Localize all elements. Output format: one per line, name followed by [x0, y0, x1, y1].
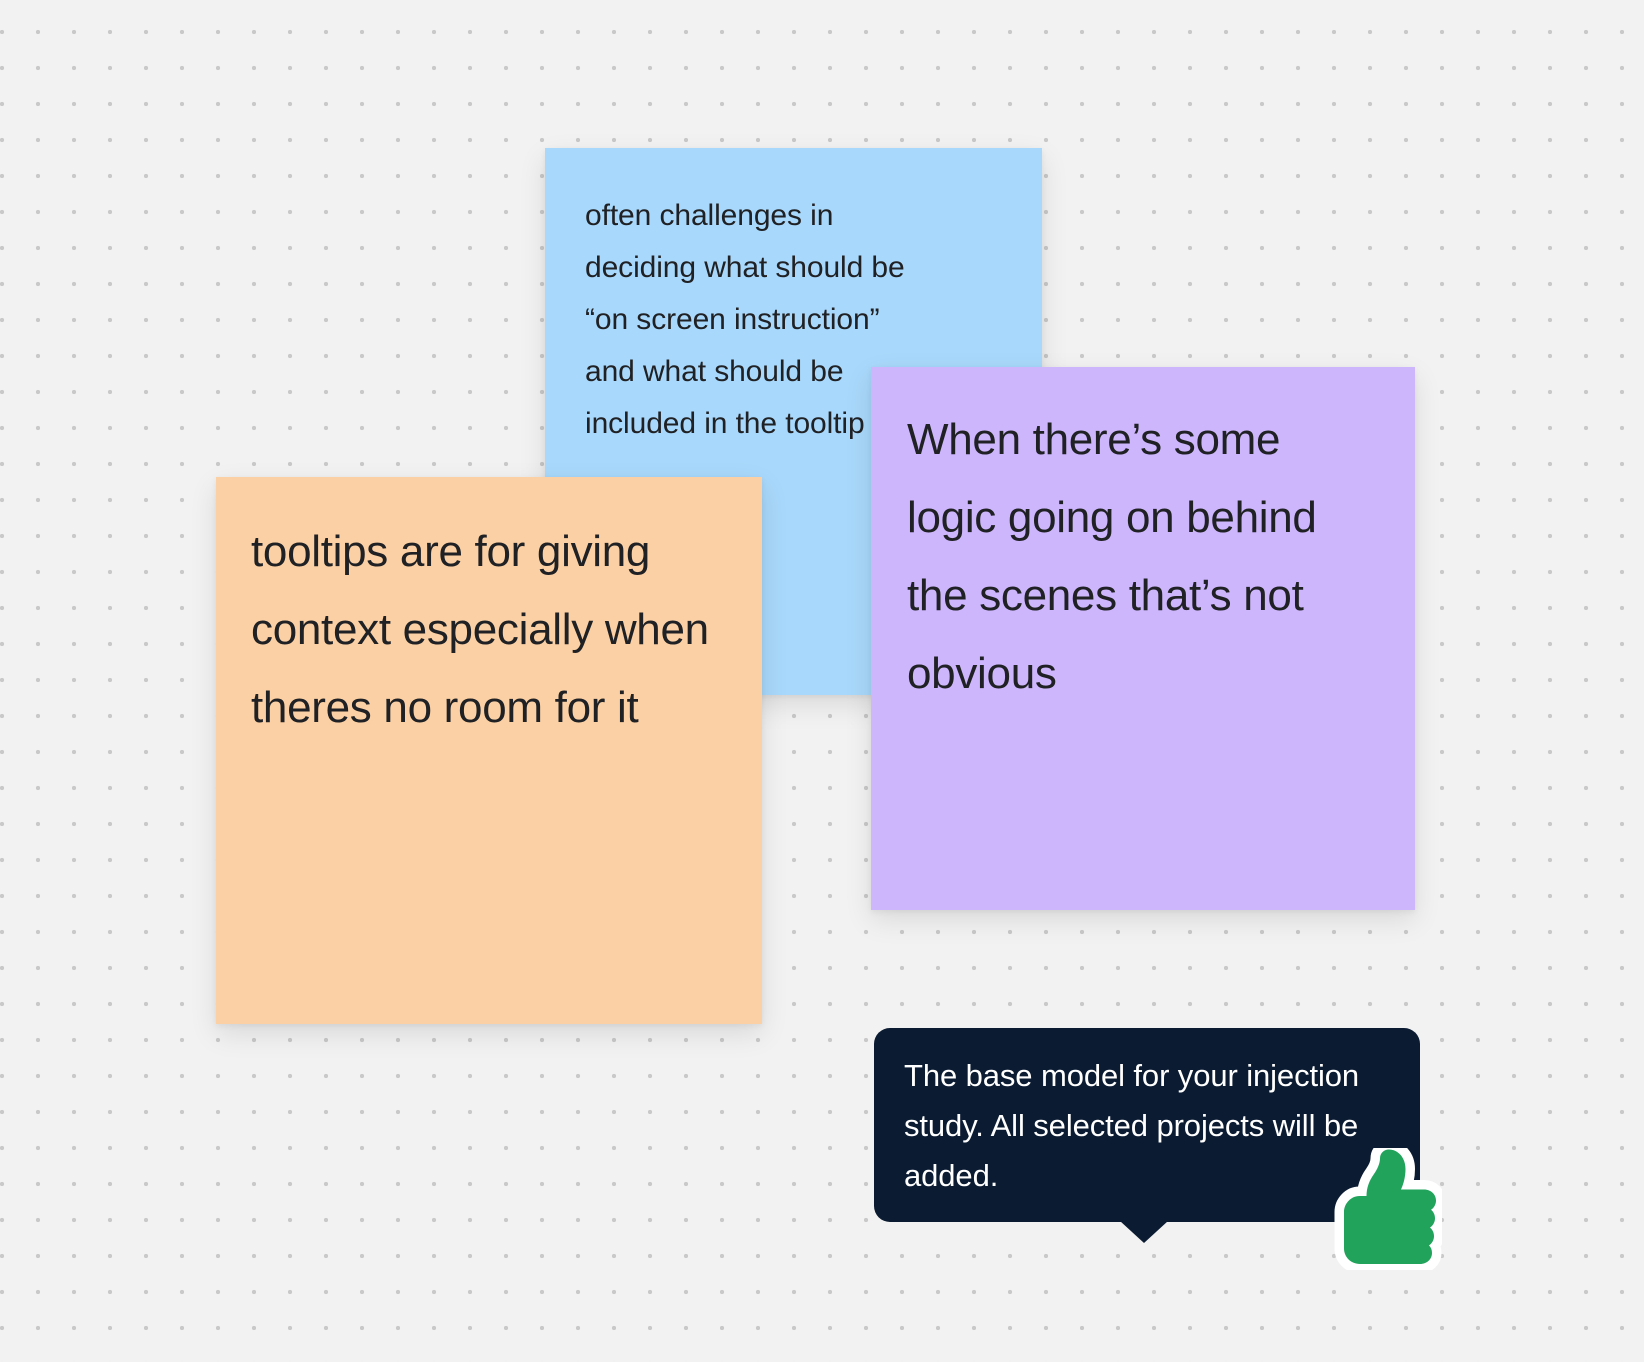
sticky-note-purple-text: When there’s some logic going on behind … [907, 401, 1377, 713]
thumbs-up-icon[interactable] [1330, 1148, 1442, 1270]
sticky-note-purple[interactable]: When there’s some logic going on behind … [871, 367, 1415, 910]
sticky-note-orange-text: tooltips are for giving context especial… [251, 513, 721, 747]
sticky-note-orange[interactable]: tooltips are for giving context especial… [216, 477, 762, 1024]
whiteboard-canvas[interactable]: often challenges in deciding what should… [0, 0, 1644, 1362]
tooltip-pointer-arrow [1120, 1221, 1168, 1243]
tooltip-text: The base model for your injection study.… [904, 1051, 1394, 1201]
